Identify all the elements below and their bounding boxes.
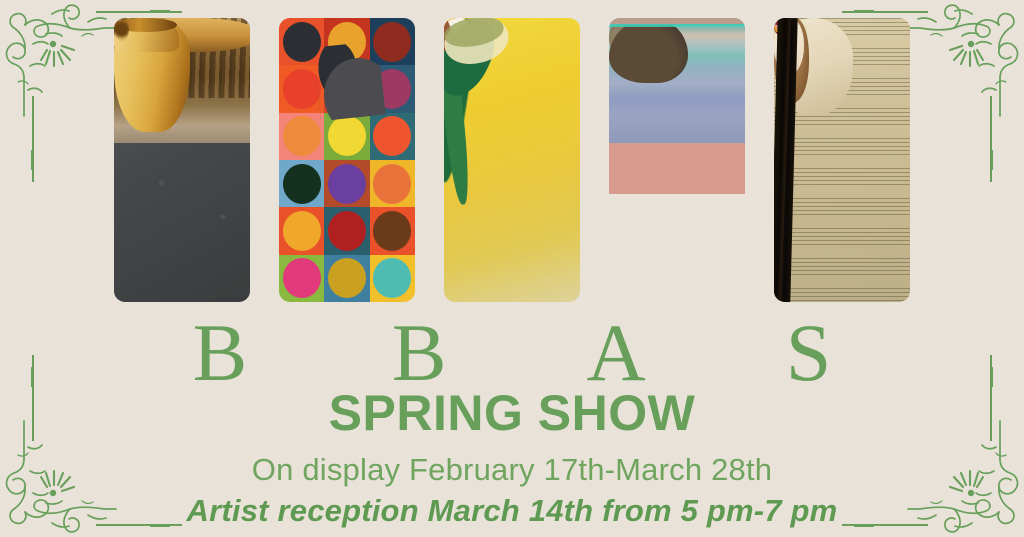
circle-grid-circle [283,258,321,298]
circle-grid-circle [283,211,321,251]
circle-grid-circle [373,116,411,156]
artist-reception-details: Artist reception March 14th from 5 pm-7 … [0,495,1024,526]
circle-grid-circle [373,258,411,298]
event-poster: B B A S SPRING SHOW On display February … [0,0,1024,537]
circle-grid-cell [324,255,369,302]
page-title: B B A S [0,300,1024,394]
circle-grid-cell [370,207,415,254]
circle-grid-cell [370,160,415,207]
circle-grid-cell [370,255,415,302]
circle-grid-cell [324,207,369,254]
circle-grid-circle [283,69,321,109]
artwork-colored-circles-grid-painting [279,18,415,302]
frame-dash-top-right [854,10,874,13]
circle-grid-circle [373,164,411,204]
circle-grid-circle [328,116,366,156]
artwork-sunset-landscape-watercolor [609,18,745,302]
circle-grid-cell [279,160,324,207]
frame-dash-top-left [150,10,170,13]
circle-grid-circle [328,211,366,251]
circle-grid-circle [328,164,366,204]
circle-grid-circle [283,116,321,156]
artwork-abstract-yellow-oil-painting [444,18,580,302]
vase-wood-knot [114,18,129,41]
circle-grid-circle [328,258,366,298]
circle-grid-cell [279,113,324,160]
circle-grid-cell [279,255,324,302]
artwork-gallery [0,18,1024,302]
on-display-dates: On display February 17th-March 28th [0,454,1024,485]
circle-grid-cell [324,160,369,207]
poster-text-block: B B A S SPRING SHOW On display February … [0,300,1024,526]
landscape-pink-band [609,18,745,24]
artwork-turned-wooden-vase-on-stump [114,18,250,302]
circles-bird-form [313,40,386,120]
artwork-doll-head-instrument-assemblage [774,18,910,302]
circle-grid-cell [279,207,324,254]
circle-grid-circle [283,164,321,204]
circle-grid-circle [373,211,411,251]
circle-grid-cell [370,113,415,160]
